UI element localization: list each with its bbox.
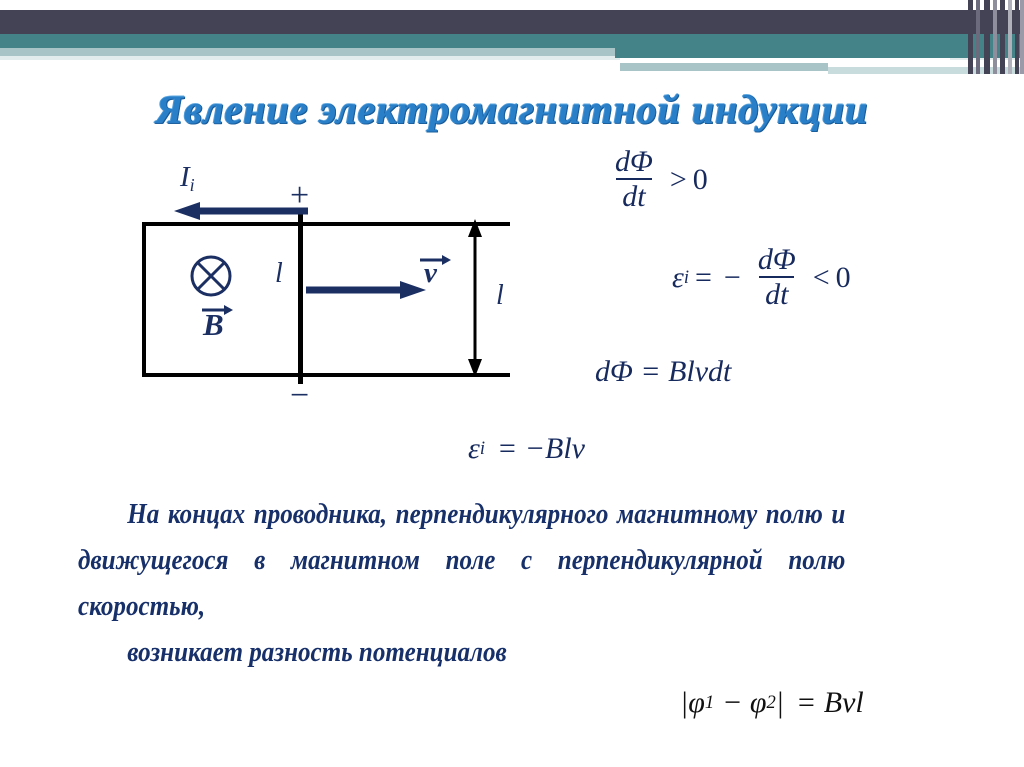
header-teal-band [0, 34, 1024, 48]
phi-close: | [776, 686, 784, 720]
rail-left [142, 222, 146, 377]
length-label-outer: l [496, 280, 504, 312]
phi-minus: − φ [722, 686, 766, 720]
emf-blv-rest: = −Blv [497, 432, 585, 466]
fraction-dphi-dt-2: dΦ dt [752, 245, 802, 310]
field-into-page-icon [188, 253, 234, 299]
slide-canvas: Явление электромагнитной индукции [0, 0, 1024, 767]
body-paragraph-main: На концах проводника, перпендикулярного … [78, 499, 845, 622]
fraction-denominator: dt [616, 178, 651, 212]
phi-rest: = Bvl [796, 686, 864, 720]
length-dimension-arrow [465, 217, 485, 379]
header-stripe-2 [984, 0, 990, 74]
rail-bottom [142, 373, 510, 377]
header-stripe-1 [976, 0, 980, 74]
fraction-dphi-dt: dΦ dt [609, 147, 659, 212]
velocity-arrow [306, 280, 430, 300]
emf-subscript: i [684, 267, 689, 289]
relation-rhs-2: 0 [836, 261, 851, 295]
page-title: Явление электромагнитной индукции [0, 86, 1024, 133]
minus-terminal-label: − [290, 377, 309, 415]
emf-subscript-2: i [480, 438, 485, 460]
phi-subscript-2: 2 [766, 692, 775, 714]
induced-current-symbol: I [180, 161, 190, 193]
circuit-diagram: B v Ii + − l l [130, 155, 550, 420]
velocity-label: v [424, 257, 437, 290]
body-paragraph: На концах проводника, перпендикулярного … [78, 492, 845, 676]
header-teal-block [615, 48, 1024, 58]
minus-operator: − [724, 261, 741, 295]
header-stripe-5 [1008, 0, 1012, 74]
header-dark-band [0, 10, 1024, 34]
length-label-inner: l [275, 258, 283, 290]
plus-terminal-label: + [290, 177, 309, 215]
rail-top [142, 222, 510, 226]
body-paragraph-last-line: возникает разность потенциалов [78, 630, 845, 676]
equals-operator: = [695, 261, 712, 295]
emf-symbol-2: ε [468, 432, 480, 466]
formula-flux-derivative-positive: dΦ dt > 0 [604, 147, 708, 212]
header-stripe-3 [993, 0, 997, 74]
field-label: B [203, 307, 224, 343]
header-stripe-0 [968, 0, 973, 74]
formula-flux-differential: dΦ = Blvdt [595, 355, 731, 389]
formula-emf-negative-flux-derivative: εi = − dΦ dt < 0 [672, 245, 851, 310]
formula-potential-difference: |φ1 − φ2| = Bvl [680, 686, 864, 720]
fraction-denominator-2: dt [759, 276, 794, 310]
header-stripe-7 [1020, 0, 1024, 74]
induced-current-arrow [170, 201, 310, 221]
relation-operator: > [670, 163, 687, 197]
fraction-numerator: dΦ [609, 147, 659, 178]
relation-operator-2: < [813, 261, 830, 295]
induced-current-label: Ii [180, 161, 195, 196]
phi-subscript-1: 1 [705, 692, 714, 714]
conductor-bar [298, 212, 303, 384]
fraction-numerator-2: dΦ [752, 245, 802, 276]
emf-symbol: ε [672, 261, 684, 295]
header-stripe-4 [1000, 0, 1005, 74]
induced-current-subscript: i [190, 175, 195, 195]
formula-emf-blv: εi = −Blv [468, 432, 585, 466]
phi-open: |φ [680, 686, 705, 720]
header-stripe-6 [1015, 0, 1019, 74]
relation-rhs: 0 [693, 163, 708, 197]
